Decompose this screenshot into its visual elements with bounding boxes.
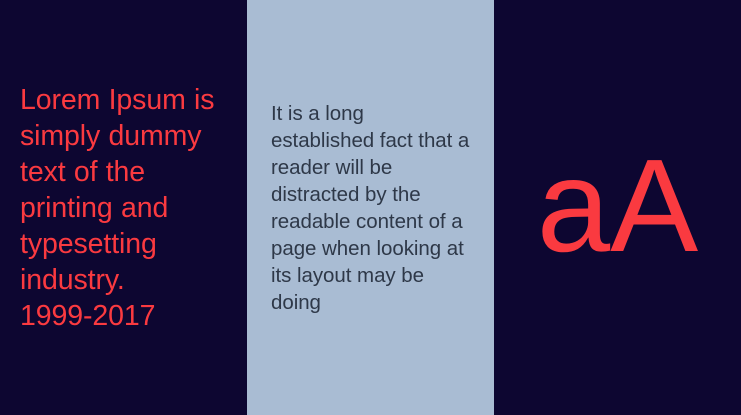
body-copy-text: It is a long established fact that a rea… (271, 100, 472, 316)
headline-panel: Lorem Ipsum is simply dummy text of the … (0, 0, 247, 415)
body-copy-panel: It is a long established fact that a rea… (247, 0, 494, 415)
glyph-panel: aA (494, 0, 741, 415)
headline-text: Lorem Ipsum is simply dummy text of the … (20, 82, 229, 334)
typography-specimen-board: Lorem Ipsum is simply dummy text of the … (0, 0, 741, 415)
glyph-sample-aA: aA (537, 140, 698, 272)
